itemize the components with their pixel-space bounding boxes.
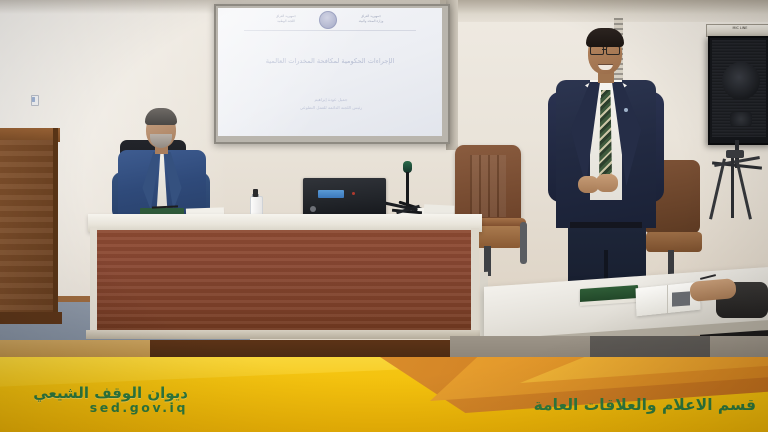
desk-wood-grain	[94, 230, 476, 334]
speaker-tweeter-icon	[730, 112, 752, 126]
shia-endowment-logo: ديوان الوقف الشيعي	[340, 357, 432, 432]
laptop-led-icon	[352, 192, 355, 195]
eyeglasses-bridge	[602, 49, 607, 50]
standing-speaker-hair	[586, 28, 624, 47]
foreground-attendee-hand	[689, 278, 737, 302]
sanitizer-pump-cap	[253, 189, 258, 197]
lapel-pin-icon	[624, 108, 628, 112]
speaker-woofer-icon	[722, 62, 760, 100]
speaker-plate-label: MIC LINE	[718, 26, 762, 30]
screen-glare	[218, 8, 442, 136]
desk-side-frame	[90, 228, 97, 336]
chair-pleats	[470, 155, 506, 217]
light-switch-rocker[interactable]	[32, 97, 35, 102]
podium-base	[0, 312, 62, 324]
desk-side-frame	[471, 228, 479, 334]
desk-base	[86, 330, 480, 339]
laptop-sticker	[318, 190, 344, 198]
office-chair-seat	[646, 232, 702, 252]
banner-brand-url[interactable]: sed.gov.iq	[18, 400, 188, 415]
tripod-leg	[731, 158, 734, 218]
office-chair-post	[668, 250, 674, 276]
banner-department-label: قسم الاعلام والعلاقات العامة	[520, 396, 756, 414]
standing-speaker-hand	[596, 174, 618, 192]
eyeglasses-icon	[606, 46, 620, 55]
podium-edge	[53, 128, 58, 318]
podium-wood-grain	[0, 140, 56, 318]
chair-arm-bar	[520, 222, 527, 264]
booklet-photo	[672, 291, 690, 306]
tripod-head	[726, 150, 744, 158]
booklet-spine	[667, 285, 668, 313]
laptop	[303, 178, 386, 218]
seated-presenter-hair	[145, 108, 177, 125]
standing-speaker-tie	[599, 90, 612, 185]
eyeglasses-icon	[590, 46, 604, 55]
screenshot-root: جمهورية العراقوزارة الصحة والبيئة جمهوري…	[0, 0, 768, 432]
laptop-logo-icon	[310, 206, 316, 212]
